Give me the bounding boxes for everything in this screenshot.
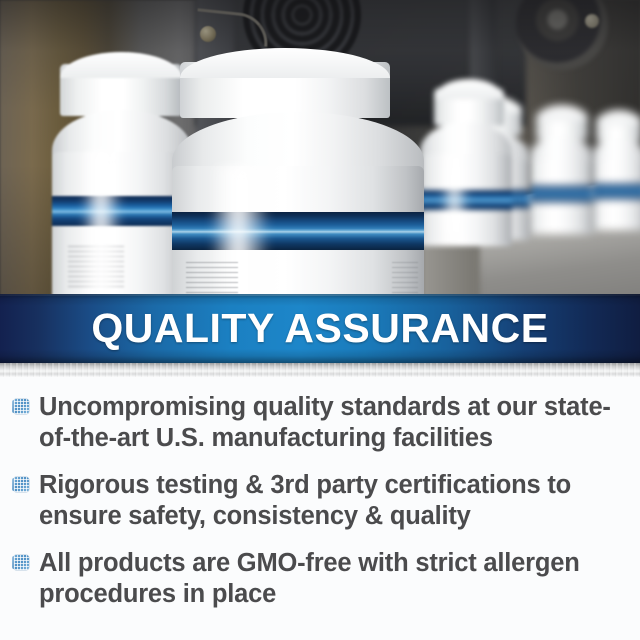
list-item: Rigorous testing & 3rd party certificati… [14,470,634,532]
blue-square-bullet-icon [14,477,29,492]
claim-text: Uncompromising quality standards at our … [39,392,634,454]
blue-square-bullet-icon [14,399,29,414]
banner-title: QUALITY ASSURANCE [0,294,640,363]
metal-strip-texture [0,363,640,377]
blue-square-bullet-icon [14,555,29,570]
claim-text: All products are GMO-free with strict al… [39,548,634,610]
list-item: All products are GMO-free with strict al… [14,548,634,610]
claim-text: Rigorous testing & 3rd party certificati… [39,470,634,532]
quality-assurance-banner: QUALITY ASSURANCE [0,294,640,363]
list-item: Uncompromising quality standards at our … [14,392,634,454]
claims-section: Uncompromising quality standards at our … [0,377,640,640]
claims-list: Uncompromising quality standards at our … [14,392,634,626]
quality-assurance-poster: QUALITY ASSURANCE Uncompromising quality… [0,0,640,640]
metal-strip [0,363,640,377]
